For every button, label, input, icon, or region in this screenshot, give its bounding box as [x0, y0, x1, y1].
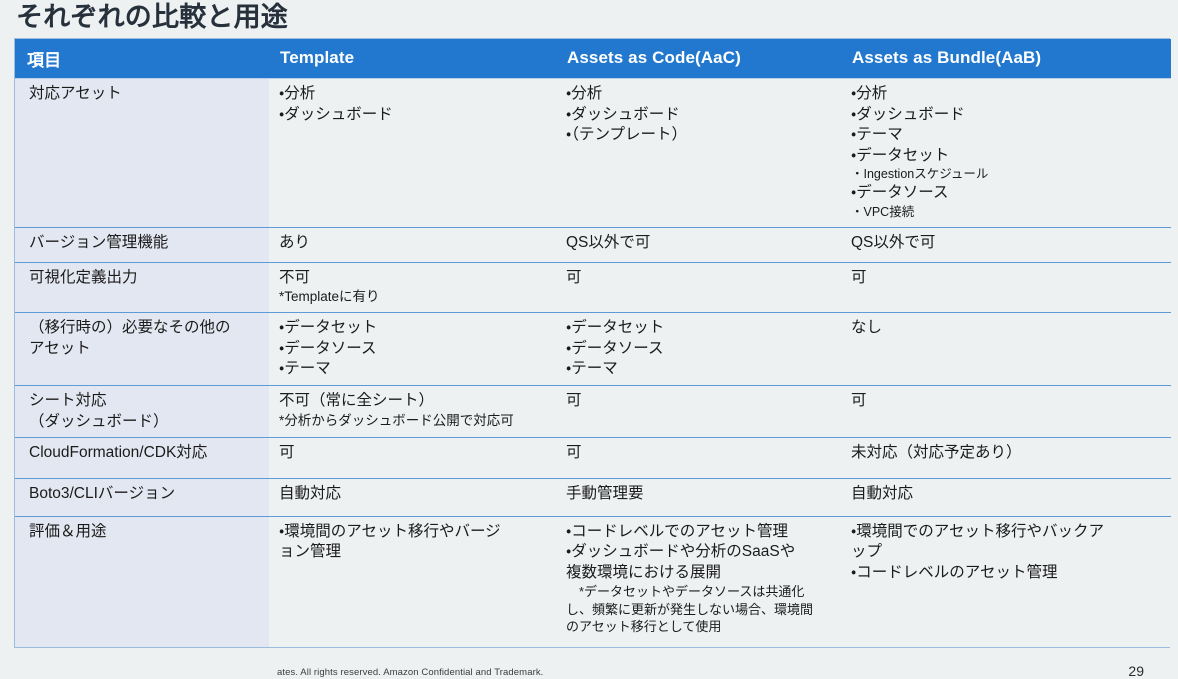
cell-content: 可 — [566, 391, 835, 412]
cell-aab-0: ・分析・ダッシュボード・テーマ・データセット・Ingestionスケジュール・デ… — [841, 79, 1171, 228]
cell-line: 可 — [851, 391, 1165, 412]
cell-line: ・環境間のアセット移行やバージ — [279, 522, 550, 543]
cell-content: 可視化定義出力 — [29, 268, 263, 289]
cell-template-5: 可 — [269, 438, 556, 478]
cell-line: あり — [279, 233, 550, 254]
cell-line: ・データセット — [279, 318, 550, 339]
slide-root: それぞれの比較と用途 項目 Template Assets as Code(Aa… — [0, 0, 1178, 666]
table-row: CloudFormation/CDK対応可可未対応（対応予定あり） — [15, 438, 1171, 478]
cell-line: 自動対応 — [279, 484, 550, 505]
cell-line: ・コードレベルのアセット管理 — [851, 563, 1165, 584]
table-row: Boto3/CLIバージョン自動対応手動管理要自動対応 — [15, 478, 1171, 516]
cell-item-1: バージョン管理機能 — [15, 227, 269, 262]
table-row: バージョン管理機能ありQS以外で可QS以外で可 — [15, 227, 1171, 262]
cell-aab-5: 未対応（対応予定あり） — [841, 438, 1171, 478]
cell-content: ・データセット・データソース・テーマ — [279, 318, 550, 380]
cell-line: ・分析 — [851, 84, 1165, 105]
cell-aab-7: ・環境間でのアセット移行やバックアップ・コードレベルのアセット管理 — [841, 516, 1171, 647]
cell-line: ップ — [851, 542, 1165, 563]
cell-content: 可 — [279, 443, 550, 464]
cell-content: QS以外で可 — [851, 233, 1165, 254]
cell-aac-1: QS以外で可 — [556, 227, 841, 262]
cell-line: なし — [851, 318, 1165, 339]
cell-content: バージョン管理機能 — [29, 233, 263, 254]
cell-content: あり — [279, 233, 550, 254]
table-row: 可視化定義出力不可*Templateに有り可可 — [15, 262, 1171, 312]
cell-line: 評価＆用途 — [29, 522, 263, 543]
cell-content: QS以外で可 — [566, 233, 835, 254]
cell-line: ・データソース — [851, 183, 1165, 204]
cell-line: ・ダッシュボードや分析のSaaSや — [566, 542, 835, 563]
cell-content: 対応アセット — [29, 84, 263, 105]
table-row: シート対応（ダッシュボード）不可（常に全シート）*分析からダッシュボード公開で対… — [15, 386, 1171, 438]
cell-line: ・データソース — [566, 339, 835, 360]
cell-aac-6: 手動管理要 — [556, 478, 841, 516]
cell-line: 可 — [566, 268, 835, 289]
cell-line: ・テーマ — [566, 359, 835, 380]
cell-content: 自動対応 — [279, 484, 550, 505]
cell-line: 可 — [566, 391, 835, 412]
cell-line: ・Ingestionスケジュール — [851, 166, 1165, 183]
cell-line: ・分析 — [279, 84, 550, 105]
cell-line: ・テーマ — [851, 125, 1165, 146]
cell-template-3: ・データセット・データソース・テーマ — [269, 313, 556, 386]
table-row: 評価＆用途・環境間のアセット移行やバージョン管理・コードレベルでのアセット管理・… — [15, 516, 1171, 647]
cell-content: ・データセット・データソース・テーマ — [566, 318, 835, 380]
cell-content: 不可（常に全シート）*分析からダッシュボード公開で対応可 — [279, 391, 550, 430]
cell-line: 不可（常に全シート） — [279, 391, 550, 412]
cell-line: *データセットやデータソースは共通化 — [566, 583, 835, 601]
comparison-table-container: 項目 Template Assets as Code(AaC) Assets a… — [14, 38, 1170, 648]
column-header-aab: Assets as Bundle(AaB) — [841, 39, 1171, 79]
cell-line: CloudFormation/CDK対応 — [29, 443, 263, 464]
cell-line: 未対応（対応予定あり） — [851, 443, 1165, 464]
column-header-template: Template — [269, 39, 556, 79]
cell-line: 可視化定義出力 — [29, 268, 263, 289]
cell-line: ・VPC接続 — [851, 204, 1165, 221]
cell-line: し、頻繁に更新が発生しない場合、環境間 — [566, 601, 835, 619]
cell-template-0: ・分析・ダッシュボード — [269, 79, 556, 228]
cell-aab-6: 自動対応 — [841, 478, 1171, 516]
cell-content: 自動対応 — [851, 484, 1165, 505]
cell-aac-5: 可 — [556, 438, 841, 478]
cell-line: ョン管理 — [279, 542, 550, 563]
cell-aac-4: 可 — [556, 386, 841, 438]
table-header-row: 項目 Template Assets as Code(AaC) Assets a… — [15, 39, 1171, 79]
cell-item-2: 可視化定義出力 — [15, 262, 269, 312]
cell-line: 不可 — [279, 268, 550, 289]
cell-aab-4: 可 — [841, 386, 1171, 438]
table-header: 項目 Template Assets as Code(AaC) Assets a… — [15, 39, 1171, 79]
cell-line: ・ダッシュボード — [279, 105, 550, 126]
cell-content: ・分析・ダッシュボード・テーマ・データセット・Ingestionスケジュール・デ… — [851, 84, 1165, 221]
cell-content: 不可*Templateに有り — [279, 268, 550, 307]
cell-line: Boto3/CLIバージョン — [29, 484, 263, 505]
cell-content: Boto3/CLIバージョン — [29, 484, 263, 505]
cell-item-3: （移行時の）必要なその他のアセット — [15, 313, 269, 386]
cell-line: シート対応 — [29, 391, 263, 412]
cell-line: ・ダッシュボード — [851, 105, 1165, 126]
cell-line: 可 — [279, 443, 550, 464]
cell-aab-2: 可 — [841, 262, 1171, 312]
cell-line: ・分析 — [566, 84, 835, 105]
cell-content: CloudFormation/CDK対応 — [29, 443, 263, 464]
cell-item-4: シート対応（ダッシュボード） — [15, 386, 269, 438]
cell-line: 複数環境における展開 — [566, 563, 835, 584]
cell-content: 評価＆用途 — [29, 522, 263, 543]
cell-content: ・環境間でのアセット移行やバックアップ・コードレベルのアセット管理 — [851, 522, 1165, 584]
cell-line: ・テーマ — [279, 359, 550, 380]
cell-template-7: ・環境間のアセット移行やバージョン管理 — [269, 516, 556, 647]
comparison-table: 項目 Template Assets as Code(AaC) Assets a… — [15, 39, 1171, 647]
cell-aab-1: QS以外で可 — [841, 227, 1171, 262]
cell-content: シート対応（ダッシュボード） — [29, 391, 263, 432]
cell-line: ・環境間でのアセット移行やバックア — [851, 522, 1165, 543]
cell-content: なし — [851, 318, 1165, 339]
cell-line: 自動対応 — [851, 484, 1165, 505]
cell-line: （移行時の）必要なその他の — [29, 318, 263, 339]
cell-aac-0: ・分析・ダッシュボード・（テンプレート） — [556, 79, 841, 228]
cell-line: ・データセット — [566, 318, 835, 339]
cell-content: ・分析・ダッシュボード — [279, 84, 550, 125]
cell-content: ・環境間のアセット移行やバージョン管理 — [279, 522, 550, 563]
cell-line: 手動管理要 — [566, 484, 835, 505]
cell-content: 可 — [566, 268, 835, 289]
cell-item-6: Boto3/CLIバージョン — [15, 478, 269, 516]
cell-line: ・ダッシュボード — [566, 105, 835, 126]
cell-line: *Templateに有り — [279, 288, 550, 306]
page-title: それぞれの比較と用途 — [16, 0, 288, 36]
cell-content: ・分析・ダッシュボード・（テンプレート） — [566, 84, 835, 146]
cell-line: のアセット移行として使用 — [566, 618, 835, 636]
column-header-item: 項目 — [15, 39, 269, 79]
table-row: 対応アセット・分析・ダッシュボード・分析・ダッシュボード・（テンプレート）・分析… — [15, 79, 1171, 228]
cell-item-5: CloudFormation/CDK対応 — [15, 438, 269, 478]
cell-template-2: 不可*Templateに有り — [269, 262, 556, 312]
cell-line: 可 — [851, 268, 1165, 289]
cell-line: ・（テンプレート） — [566, 125, 835, 146]
cell-content: （移行時の）必要なその他のアセット — [29, 318, 263, 359]
cell-content: 可 — [851, 391, 1165, 412]
cell-content: ・コードレベルでのアセット管理・ダッシュボードや分析のSaaSや複数環境における… — [566, 522, 835, 636]
cell-line: 対応アセット — [29, 84, 263, 105]
cell-template-4: 不可（常に全シート）*分析からダッシュボード公開で対応可 — [269, 386, 556, 438]
cell-item-7: 評価＆用途 — [15, 516, 269, 647]
table-row: （移行時の）必要なその他のアセット・データセット・データソース・テーマ・データセ… — [15, 313, 1171, 386]
cell-line: （ダッシュボード） — [29, 412, 263, 433]
cell-line: アセット — [29, 339, 263, 360]
copyright-footer: ates. All rights reserved. Amazon Confid… — [277, 666, 543, 679]
cell-aac-2: 可 — [556, 262, 841, 312]
cell-template-6: 自動対応 — [269, 478, 556, 516]
cell-line: QS以外で可 — [851, 233, 1165, 254]
cell-content: 可 — [851, 268, 1165, 289]
cell-item-0: 対応アセット — [15, 79, 269, 228]
cell-content: 可 — [566, 443, 835, 464]
cell-aac-7: ・コードレベルでのアセット管理・ダッシュボードや分析のSaaSや複数環境における… — [556, 516, 841, 647]
cell-line: 可 — [566, 443, 835, 464]
table-body: 対応アセット・分析・ダッシュボード・分析・ダッシュボード・（テンプレート）・分析… — [15, 79, 1171, 648]
cell-line: ・データセット — [851, 146, 1165, 167]
cell-line: QS以外で可 — [566, 233, 835, 254]
cell-content: 未対応（対応予定あり） — [851, 443, 1165, 464]
cell-line: バージョン管理機能 — [29, 233, 263, 254]
cell-line: ・コードレベルでのアセット管理 — [566, 522, 835, 543]
column-header-aac: Assets as Code(AaC) — [556, 39, 841, 79]
cell-line: ・データソース — [279, 339, 550, 360]
cell-content: 手動管理要 — [566, 484, 835, 505]
cell-template-1: あり — [269, 227, 556, 262]
cell-aac-3: ・データセット・データソース・テーマ — [556, 313, 841, 386]
page-number: 29 — [1128, 663, 1144, 679]
cell-aab-3: なし — [841, 313, 1171, 386]
cell-line: *分析からダッシュボード公開で対応可 — [279, 412, 550, 430]
